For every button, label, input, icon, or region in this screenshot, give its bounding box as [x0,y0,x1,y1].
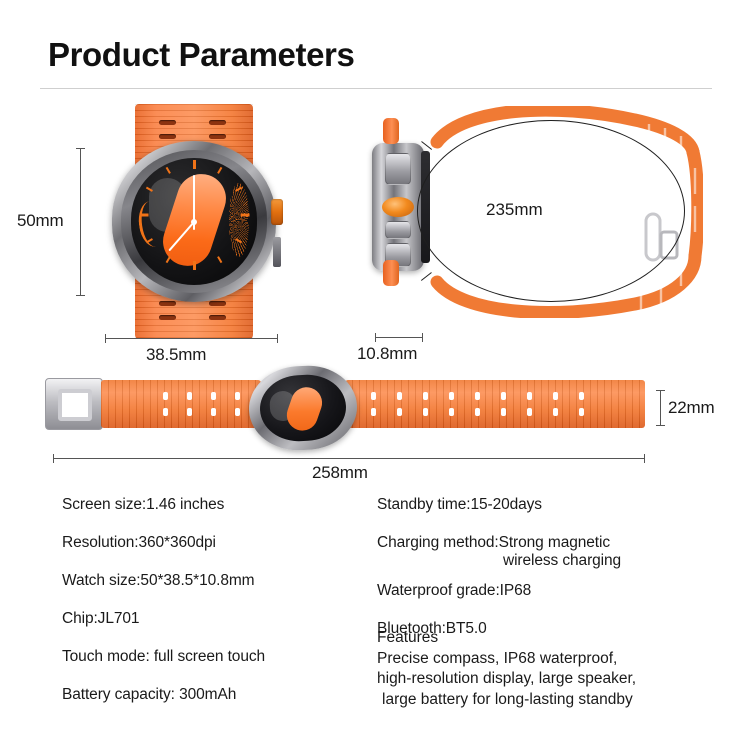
strap-left [101,380,261,428]
buckle [45,378,103,430]
page-title: Product Parameters [48,36,354,74]
spec-charging-line2: wireless charging [377,552,621,570]
crown-side [382,197,414,217]
features-block: Features Precise compass, IP68 waterproo… [377,628,636,710]
strap-hole [187,392,192,400]
watch-dial-flat [258,373,347,443]
dimension-serif [105,334,106,343]
spec-list-left: Screen size:1.46 inches Resolution:360*3… [62,496,265,724]
spec-resolution: Resolution:360*360dpi [62,534,265,552]
features-line-3: large battery for long-lasting standby [377,690,636,711]
watch-side-view: 235mm [355,104,715,339]
strap-hole [501,408,506,416]
spec-charging-method: Charging method:Strong magnetic wireless… [377,534,621,570]
dimension-line-thickness [375,337,423,338]
watch-flat-view [45,368,660,440]
band-hole [209,315,226,320]
side-button [273,237,281,267]
watch-front-view [104,104,284,339]
strap-hole [579,392,584,400]
dial-tick [193,160,196,169]
dimension-line-length [53,458,645,459]
strap-ridge-texture [101,380,261,428]
strap-hole [235,392,240,400]
circumference-ellipse [417,120,685,302]
strap-hole [371,408,376,416]
dimension-label-circumference: 235mm [486,200,543,220]
features-line-1: Precise compass, IP68 waterproof, [377,649,636,670]
band-hole [209,301,226,306]
strap-hole [449,392,454,400]
dimension-serif [277,334,278,343]
dimension-serif [76,295,85,296]
title-divider [40,88,712,89]
strap-hole [449,408,454,416]
dial-tick [166,167,171,174]
dimension-label-width: 38.5mm [146,345,206,365]
band-hole [159,301,176,306]
strap-hole [371,392,376,400]
strap-hole [235,408,240,416]
dial-tick [217,167,222,174]
strap-hole [423,408,428,416]
strap-hole [527,392,532,400]
watch-dial [131,158,257,285]
dimension-label-thickness: 10.8mm [357,344,417,364]
dimension-serif [422,333,423,342]
band-hole [159,315,176,320]
features-heading: Features [377,628,636,649]
spec-standby-time: Standby time:15-20days [377,496,621,514]
dial-tick [240,214,249,217]
strap-hole [475,392,480,400]
band-hole [159,134,176,139]
dimension-label-height: 50mm [17,211,63,231]
spec-touch-mode: Touch mode: full screen touch [62,648,265,666]
spec-chip: Chip:JL701 [62,610,265,628]
hand-pivot [191,219,197,225]
band-connector-top [383,118,399,144]
dial-tick [193,261,196,270]
dimension-serif [76,148,85,149]
strap-hole [475,408,480,416]
strap-hole [423,392,428,400]
dimension-serif [53,454,54,463]
dimension-serif [656,425,665,426]
strap-right [345,380,645,428]
dimension-line-band-width [660,390,661,425]
band-hole [209,134,226,139]
crown-dial [271,199,283,225]
dimension-label-band-width: 22mm [668,398,714,418]
strap-hole [397,408,402,416]
watch-case [112,141,276,302]
product-parameters-page: Product Parameters [0,0,750,750]
strap-ridge-texture [345,380,645,428]
spec-battery: Battery capacity: 300mAh [62,686,265,704]
strap-hole [163,392,168,400]
mid-button [385,221,411,239]
spec-waterproof: Waterproof grade:IP68 [377,582,621,600]
dimension-line-width [105,338,278,339]
spec-watch-size: Watch size:50*38.5*10.8mm [62,572,265,590]
strap-hole [211,408,216,416]
spec-charging-line1: Charging method:Strong magnetic [377,534,621,552]
circumference-arrow [421,272,432,281]
dimension-serif [656,390,665,391]
dimension-serif [375,333,376,342]
band-hole [209,120,226,125]
strap-hole [211,392,216,400]
dial-capsule-graphic [283,383,326,434]
strap-hole [397,392,402,400]
spec-screen-size: Screen size:1.46 inches [62,496,265,514]
strap-hole [527,408,532,416]
band-hole [159,120,176,125]
strap-hole [501,392,506,400]
band-connector-bottom [383,260,399,286]
dimension-serif [644,454,645,463]
strap-hole [553,408,558,416]
top-button [385,153,411,185]
strap-hole [187,408,192,416]
watch-case-flat [247,363,359,453]
dimension-label-length: 258mm [312,463,368,483]
dial-tick [217,256,222,263]
strap-hole [163,408,168,416]
buckle-slot [58,389,92,421]
features-line-2: high-resolution display, large speaker, [377,669,636,690]
strap-hole [579,408,584,416]
dial-scale-ticks [229,183,249,257]
dimension-line-height [80,148,81,295]
dial-tick [139,214,148,217]
strap-hole [553,392,558,400]
